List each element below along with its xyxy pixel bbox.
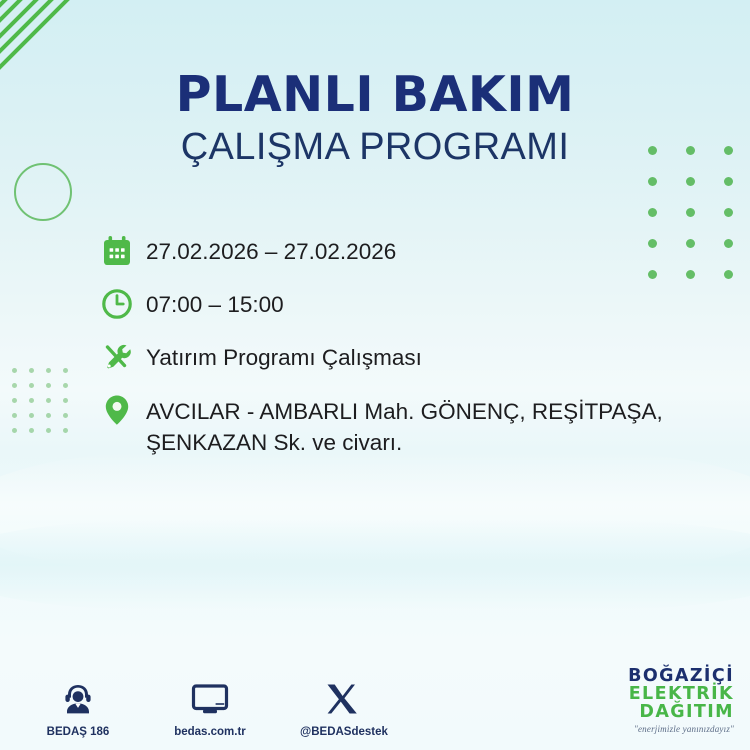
company-logo: BOĞAZİÇİ ELEKTRİK DAĞITIM "enerjimizle y…: [628, 668, 734, 734]
grid-dot: [63, 368, 68, 373]
detail-text-location: AVCILAR - AMBARLI Mah. GÖNENÇ, REŞİTPAŞA…: [146, 391, 663, 458]
grid-dot: [29, 368, 34, 373]
grid-dot: [46, 368, 51, 373]
grid-dot: [29, 428, 34, 433]
contact-channel-phone[interactable]: BEDAŞ 186: [36, 675, 120, 738]
grid-dot: [686, 208, 695, 217]
grid-dot: [724, 208, 733, 217]
contact-channels: BEDAŞ 186 bedas.com.tr: [36, 675, 384, 738]
detail-location-line2: ŞENKAZAN Sk. ve civarı.: [146, 430, 402, 455]
page-subtitle: ÇALIŞMA PROGRAMI: [0, 128, 750, 168]
detail-text-work-type: Yatırım Programı Çalışması: [146, 338, 422, 373]
grid-dot: [12, 398, 17, 403]
poster-canvas: PLANLI BAKIM ÇALIŞMA PROGRAMI 27.02.2026…: [0, 0, 750, 750]
page-title: PLANLI BAKIM: [0, 70, 750, 119]
detail-row-location: AVCILAR - AMBARLI Mah. GÖNENÇ, REŞİTPAŞA…: [100, 391, 700, 458]
grid-dot: [12, 368, 17, 373]
detail-text-date: 27.02.2026 – 27.02.2026: [146, 232, 396, 267]
poster-footer: BEDAŞ 186 bedas.com.tr: [0, 640, 750, 750]
grid-dot: [12, 428, 17, 433]
circle-outline-decoration: [14, 163, 72, 221]
contact-channel-x[interactable]: @BEDASdestek: [300, 675, 384, 738]
detail-location-line1: AVCILAR - AMBARLI Mah. GÖNENÇ, REŞİTPAŞA…: [146, 399, 663, 424]
grid-dot: [29, 413, 34, 418]
contact-label-x: @BEDASdestek: [300, 726, 384, 738]
detail-text-time: 07:00 – 15:00: [146, 285, 284, 320]
dot-grid-left-decoration: [12, 368, 80, 443]
grid-dot: [46, 383, 51, 388]
maintenance-details-list: 27.02.2026 – 27.02.2026 07:00 – 15:00: [100, 232, 700, 458]
grid-dot: [46, 413, 51, 418]
grid-dot: [12, 383, 17, 388]
grid-dot: [724, 270, 733, 279]
grid-dot: [63, 383, 68, 388]
contact-channel-website[interactable]: bedas.com.tr: [168, 675, 252, 738]
tools-icon: [100, 338, 146, 374]
poster-header: PLANLI BAKIM ÇALIŞMA PROGRAMI: [0, 70, 750, 168]
grid-dot: [29, 398, 34, 403]
logo-line-dagitim: DAĞITIM: [628, 704, 734, 722]
grid-dot: [648, 177, 657, 186]
grid-dot: [724, 177, 733, 186]
grid-dot: [63, 398, 68, 403]
detail-row-date: 27.02.2026 – 27.02.2026: [100, 232, 700, 268]
clock-icon: [100, 285, 146, 321]
detail-row-work-type: Yatırım Programı Çalışması: [100, 338, 700, 374]
location-pin-icon: [100, 391, 146, 427]
contact-label-phone: BEDAŞ 186: [36, 726, 120, 738]
grid-dot: [686, 177, 695, 186]
detail-row-time: 07:00 – 15:00: [100, 285, 700, 321]
grid-dot: [12, 413, 17, 418]
background-wave-band: [0, 452, 750, 572]
logo-tagline: "enerjimizle yanınızdayız": [628, 725, 734, 734]
grid-dot: [648, 208, 657, 217]
x-twitter-icon: [300, 675, 384, 719]
monitor-icon: [168, 675, 252, 719]
grid-dot: [29, 383, 34, 388]
grid-dot: [63, 428, 68, 433]
call-center-agent-icon: [36, 675, 120, 719]
background-wave-band-secondary: [0, 520, 750, 610]
grid-dot: [46, 398, 51, 403]
contact-label-website: bedas.com.tr: [168, 726, 252, 738]
grid-dot: [46, 428, 51, 433]
grid-dot: [63, 413, 68, 418]
calendar-icon: [100, 232, 146, 268]
grid-dot: [724, 239, 733, 248]
